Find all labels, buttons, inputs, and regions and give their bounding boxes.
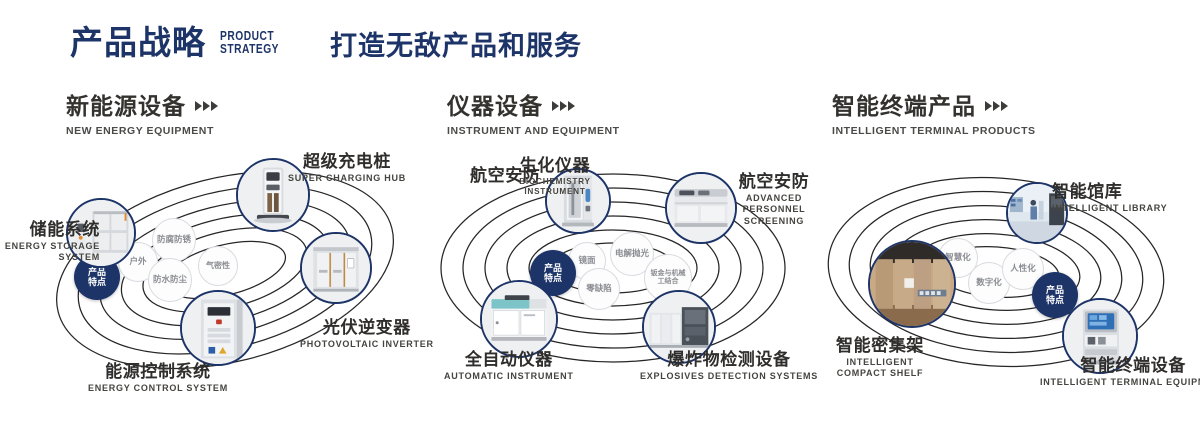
page-title-en-line2: STRATEGY: [220, 43, 279, 56]
label-cn: 爆炸物检测设备: [640, 350, 818, 369]
label-en: INTELLIGENT LIBRARY: [1052, 203, 1167, 214]
label-en: INTELLIGENT TERMINAL EQUIPMENT: [1040, 377, 1200, 388]
core-line2: 特点: [1046, 295, 1064, 305]
label-intelligent-library: 智能馆库 INTELLIGENT LIBRARY: [1052, 182, 1167, 214]
label-en: ENERGY CONTROL SYSTEM: [88, 383, 228, 394]
section-title-instrument: 仪器设备 INSTRUMENT AND EQUIPMENT: [447, 95, 620, 137]
page-subtitle: 打造无敌产品和服务: [330, 33, 582, 60]
page-title-en-line1: PRODUCT: [220, 30, 279, 43]
photovoltaic-inverter-photo: [302, 234, 370, 302]
cluster-new-energy: 防腐防锈 户外 防水防尘 气密性 产品 特点: [30, 150, 420, 390]
chevron-right-icon: [552, 101, 575, 113]
label-cn: 生化仪器: [512, 156, 598, 175]
core-line1: 产品: [88, 267, 106, 277]
label-cn: 智能密集架: [828, 336, 932, 355]
section-title-cn: 仪器设备: [447, 95, 543, 118]
node-energy-control-system[interactable]: [180, 290, 256, 366]
section-title-en: INTELLIGENT TERMINAL PRODUCTS: [832, 125, 1036, 137]
label-en: SUPER CHARGING HUB: [288, 173, 406, 184]
page-title-en: PRODUCT STRATEGY: [220, 30, 279, 60]
feature-bubble: 零缺陷: [578, 268, 620, 310]
label-photovoltaic-inverter: 光伏逆变器 PHOTOVOLTAIC INVERTER: [300, 318, 434, 350]
node-photovoltaic-inverter[interactable]: [300, 232, 372, 304]
label-explosives-detection: 爆炸物检测设备 EXPLOSIVES DETECTION SYSTEMS: [640, 350, 818, 382]
section-title-new-energy: 新能源设备 NEW ENERGY EQUIPMENT: [66, 95, 218, 137]
label-en: AUTOMATIC INSTRUMENT: [444, 371, 574, 382]
label-cn: 智能终端设备: [1040, 356, 1200, 375]
section-title-cn: 新能源设备: [66, 95, 186, 118]
label-automatic-instrument: 全自动仪器 AUTOMATIC INSTRUMENT: [444, 350, 574, 382]
node-intelligent-compact-shelf[interactable]: [868, 240, 956, 328]
label-biochemistry-instrument: 生化仪器 BIOCHEMISTRY INSTRUMENT: [512, 156, 598, 198]
label-cn: 储能系统: [0, 220, 100, 239]
feature-bubble: 气密性: [198, 246, 238, 286]
label-energy-storage-system: 储能系统 ENERGY STORAGE SYSTEM: [0, 220, 100, 264]
label-cn: 光伏逆变器: [300, 318, 434, 337]
node-automatic-instrument[interactable]: [480, 280, 558, 358]
feature-bubble: 防腐防锈: [152, 218, 196, 262]
page-title-cn: 产品战略: [70, 26, 206, 59]
poster-canvas: 产品战略 PRODUCT STRATEGY 打造无敌产品和服务 新能源设备 NE…: [0, 0, 1200, 422]
label-en: EXPLOSIVES DETECTION SYSTEMS: [640, 371, 818, 382]
chevron-right-icon: [985, 101, 1008, 113]
label-en: INTELLIGENT COMPACT SHELF: [828, 357, 932, 380]
section-title-intelligent-terminal: 智能终端产品 INTELLIGENT TERMINAL PRODUCTS: [832, 95, 1036, 137]
label-intelligent-compact-shelf: 智能密集架 INTELLIGENT COMPACT SHELF: [828, 336, 932, 380]
chevron-right-icon: [195, 101, 218, 113]
label-cn: 智能馆库: [1052, 182, 1167, 201]
compact-shelf-photo: [870, 242, 954, 326]
label-en: PHOTOVOLTAIC INVERTER: [300, 339, 434, 350]
label-super-charging-hub: 超级充电桩 SUPER CHARGING HUB: [288, 152, 406, 184]
core-line1: 产品: [1046, 285, 1064, 295]
core-line1: 产品: [544, 263, 562, 273]
energy-control-cabinet-photo: [182, 292, 254, 364]
section-title-en: NEW ENERGY EQUIPMENT: [66, 125, 218, 137]
label-cn: 超级充电桩: [288, 152, 406, 171]
automatic-instrument-photo: [482, 282, 556, 356]
label-en: ENERGY STORAGE SYSTEM: [0, 241, 100, 264]
label-en: BIOCHEMISTRY INSTRUMENT: [512, 177, 598, 198]
page-title: 产品战略 PRODUCT STRATEGY: [70, 26, 292, 59]
section-title-cn: 智能终端产品: [832, 95, 976, 118]
section-title-en: INSTRUMENT AND EQUIPMENT: [447, 125, 620, 137]
label-energy-control-system: 能源控制系统 ENERGY CONTROL SYSTEM: [88, 362, 228, 394]
label-intelligent-terminal-equipment: 智能终端设备 INTELLIGENT TERMINAL EQUIPMENT: [1040, 356, 1200, 388]
label-cn: 全自动仪器: [444, 350, 574, 369]
core-line2: 特点: [88, 277, 106, 287]
label-cn: 能源控制系统: [88, 362, 228, 381]
